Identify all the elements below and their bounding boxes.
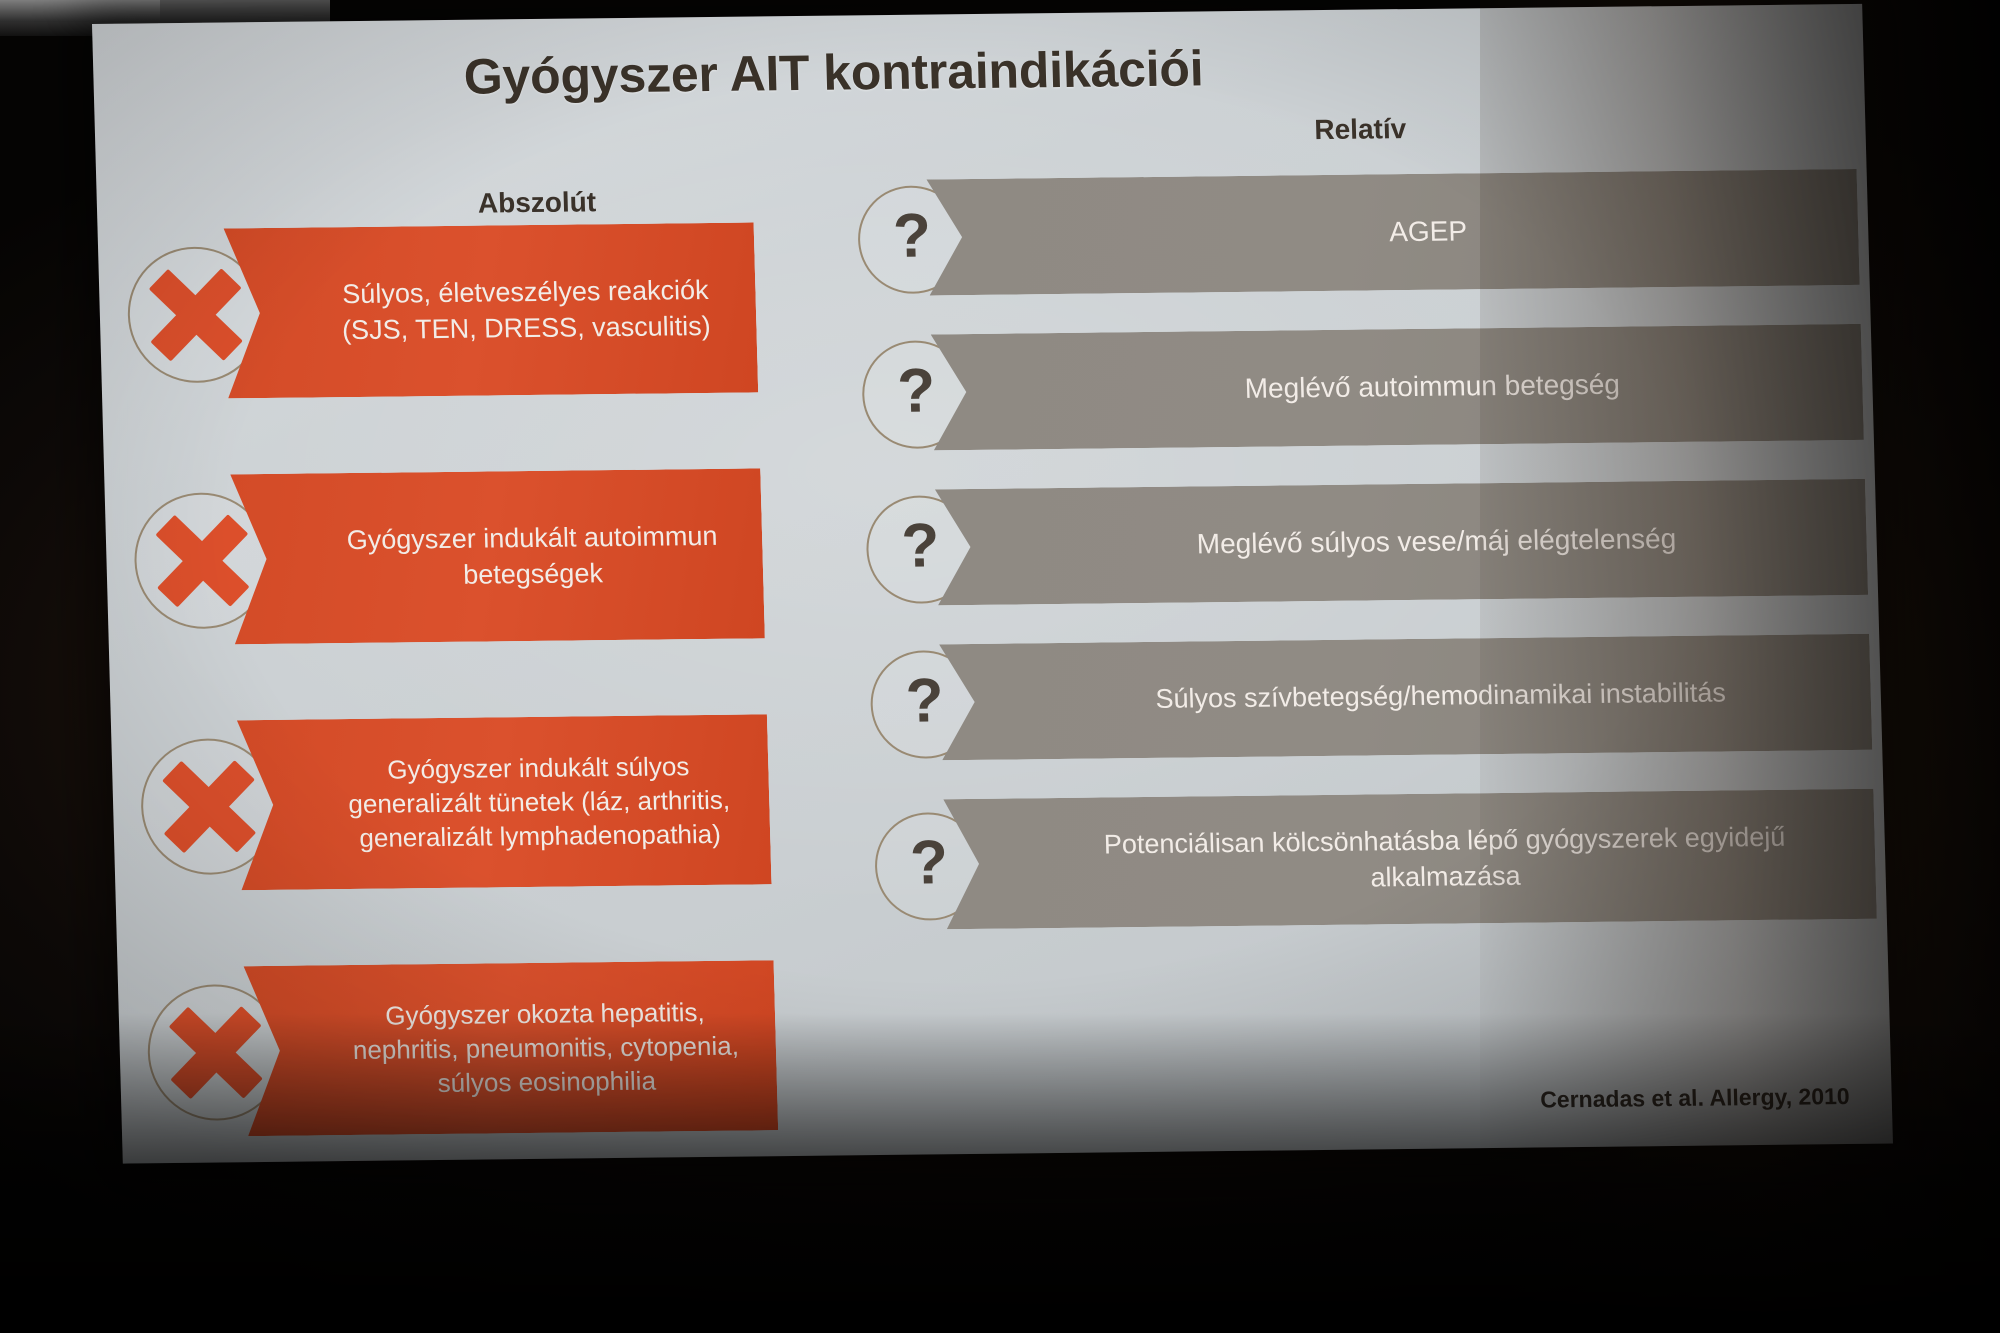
absolute-item-box[interactable]: Gyógyszer indukált súlyos generalizált t… [237, 714, 772, 890]
absolute-item-label: Gyógyszer indukált autoimmun betegségek [328, 517, 738, 594]
question-mark-glyph: ? [905, 670, 945, 738]
column-header-absolute: Abszolút [427, 186, 648, 220]
absolute-item-box[interactable]: Súlyos, életveszélyes reakciók (SJS, TEN… [224, 222, 759, 398]
absolute-item-label: Súlyos, életveszélyes reakciók (SJS, TEN… [321, 272, 731, 349]
room-photograph-background: Gyógyszer AIT kontraindikációi Abszolút … [0, 0, 2000, 1333]
absolute-item-box[interactable]: Gyógyszer indukált autoimmun betegségek [230, 468, 765, 644]
column-header-relative: Relatív [1250, 112, 1471, 146]
question-mark-glyph: ? [892, 205, 932, 273]
ceiling-panel [0, 0, 160, 22]
absolute-row-1: Súlyos, életveszélyes reakciók (SJS, TEN… [116, 222, 761, 399]
question-mark-glyph: ? [909, 832, 949, 900]
question-mark-glyph: ? [896, 360, 936, 428]
page-title: Gyógyszer AIT kontraindikációi [423, 39, 1245, 106]
absolute-row-3: Gyógyszer indukált súlyos generalizált t… [129, 714, 774, 891]
question-mark-glyph: ? [901, 515, 941, 583]
absolute-item-label: Gyógyszer indukált súlyos generalizált t… [334, 748, 745, 856]
absolute-row-2: Gyógyszer indukált autoimmun betegségek [122, 468, 767, 645]
foreground-shadow [0, 1013, 2000, 1333]
